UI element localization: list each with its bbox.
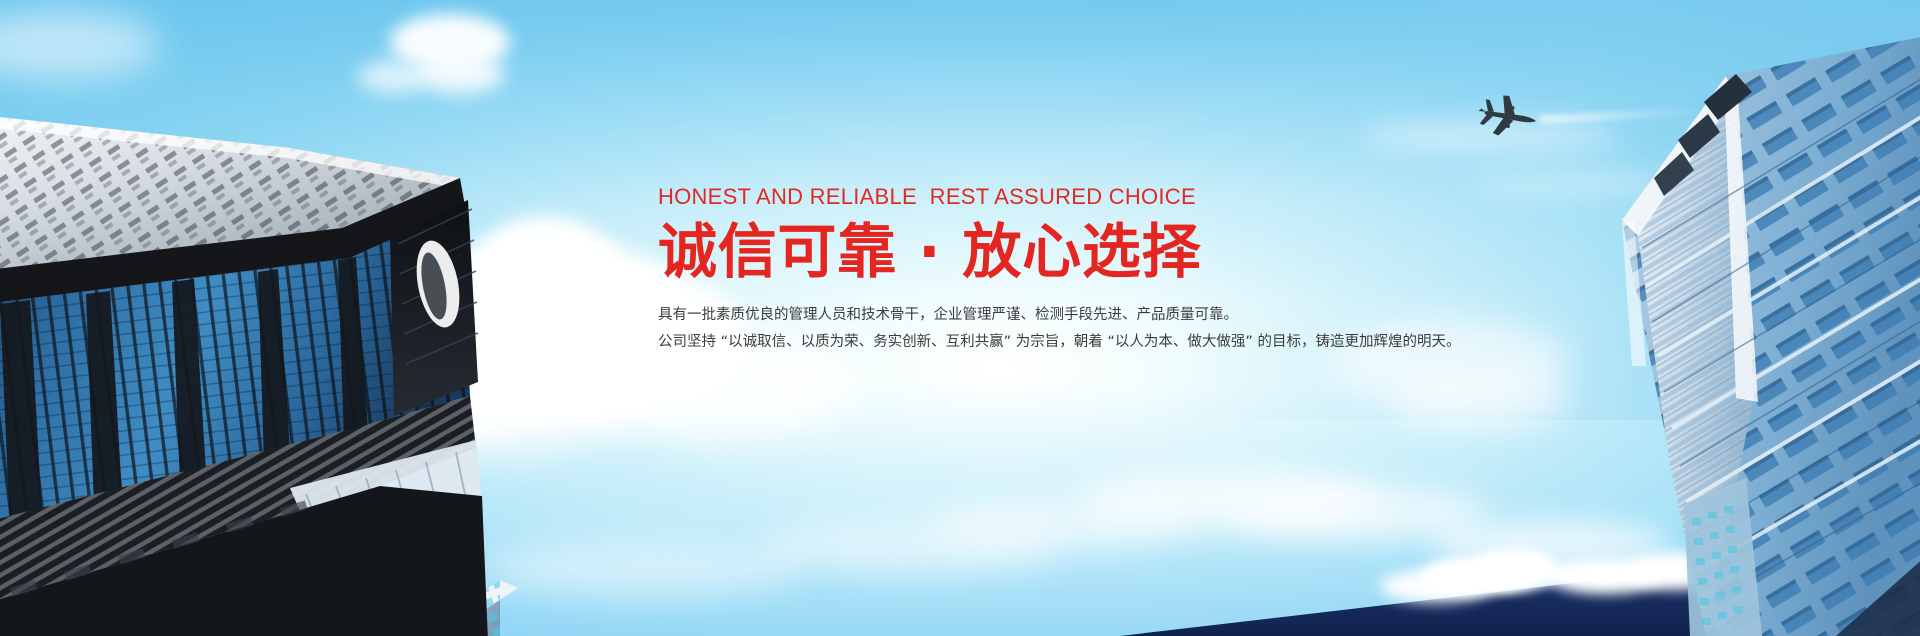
cloud-cumulus-4 [470, 216, 620, 336]
right-skyscraper [1586, 36, 1920, 636]
hero-banner: HONEST AND RELIABLE REST ASSURED CHOICE … [0, 0, 1920, 636]
banner-copy: HONEST AND RELIABLE REST ASSURED CHOICE … [658, 186, 1458, 356]
banner-eyebrow: HONEST AND RELIABLE REST ASSURED CHOICE [658, 186, 1458, 208]
banner-body-line-1: 具有一批素质优良的管理人员和技术骨干，企业管理严谨、检测手段先进、产品质量可靠。 [658, 302, 1458, 329]
cloud-top-2 [415, 54, 505, 94]
banner-body-line-2: 公司坚持 “以诚取信、以质为荣、务实创新、互利共赢” 为宗旨，朝着 “以人为本、… [658, 329, 1458, 356]
left-skyscraper [0, 96, 490, 636]
cloud-mid-right-2 [1390, 370, 1570, 432]
cloud-top-3 [358, 60, 428, 94]
banner-headline: 诚信可靠 · 放心选择 [658, 222, 1458, 282]
airplane-icon [1476, 92, 1546, 144]
